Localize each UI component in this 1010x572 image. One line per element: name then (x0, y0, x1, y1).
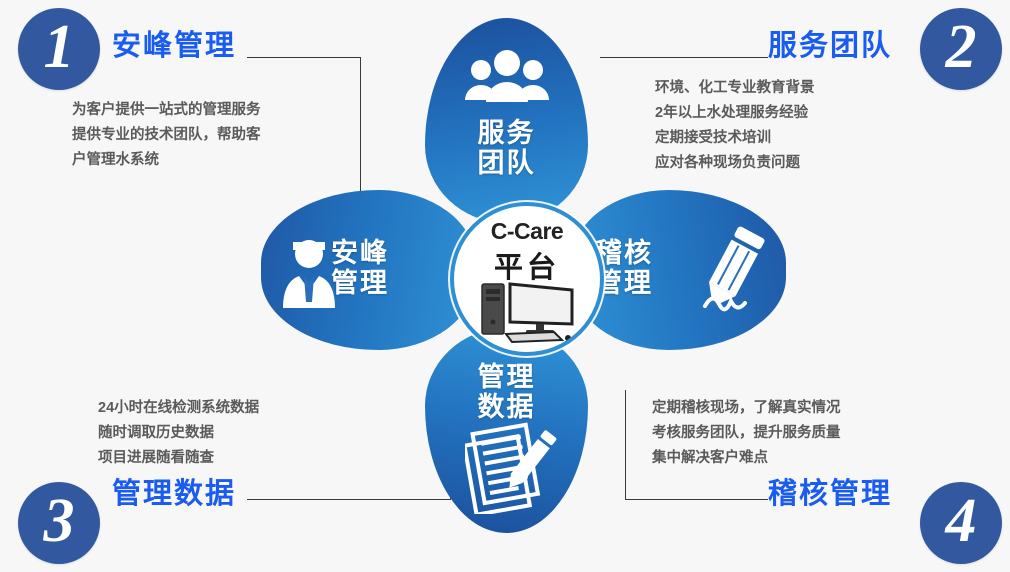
petal-label-management-data: 管理 数据 (425, 362, 588, 422)
badge-number-3: 3 (44, 490, 75, 552)
section-title-1: 安峰管理 (112, 22, 236, 64)
text-line: 为客户提供一站式的管理服务 (72, 98, 261, 123)
text-line: 24小时在线检测系统数据 (98, 396, 259, 421)
section-body-1: 为客户提供一站式的管理服务提供专业的技术团队，帮助客户管理水系统 (72, 98, 261, 173)
infographic-canvas: 1 2 3 4 安峰管理 服务团队 管理数据 稽核管理 为客户提供一站式的管理服… (0, 0, 1010, 572)
section-number-badge-2: 2 (920, 8, 1002, 90)
badge-number-4: 4 (946, 490, 977, 552)
badge-number-2: 2 (946, 16, 977, 78)
text-line: 随时调取历史数据 (98, 421, 259, 446)
section-number-badge-4: 4 (920, 482, 1002, 564)
center-hub-ccare-platform[interactable]: C-Care 平台 (450, 202, 604, 356)
text-line: 项目进展随看随查 (98, 446, 259, 471)
section-title-3: 管理数据 (112, 470, 236, 512)
hub-brand-label: C-Care (454, 218, 600, 245)
petal-label-anfeng-management: 安峰 管理 (331, 238, 451, 298)
petal-label-service-team: 服务 团队 (425, 118, 588, 178)
section-body-3: 24小时在线检测系统数据随时调取历史数据项目进展随看随查 (98, 396, 259, 471)
text-line: 户管理水系统 (72, 148, 261, 173)
people-group-icon (463, 50, 551, 106)
petal-label-audit-management: 稽核 管理 (595, 238, 715, 298)
desktop-computer-icon (480, 278, 576, 344)
clipboard-pencil-icon (465, 422, 557, 514)
badge-number-1: 1 (44, 16, 75, 78)
flower-diagram: 服务 团队 安峰 管理 稽核 管理 管理 数据 C-Care 平台 (253, 10, 793, 530)
section-number-badge-3: 3 (18, 482, 100, 564)
text-line: 提供专业的技术团队，帮助客 (72, 123, 261, 148)
section-number-badge-1: 1 (18, 8, 100, 90)
